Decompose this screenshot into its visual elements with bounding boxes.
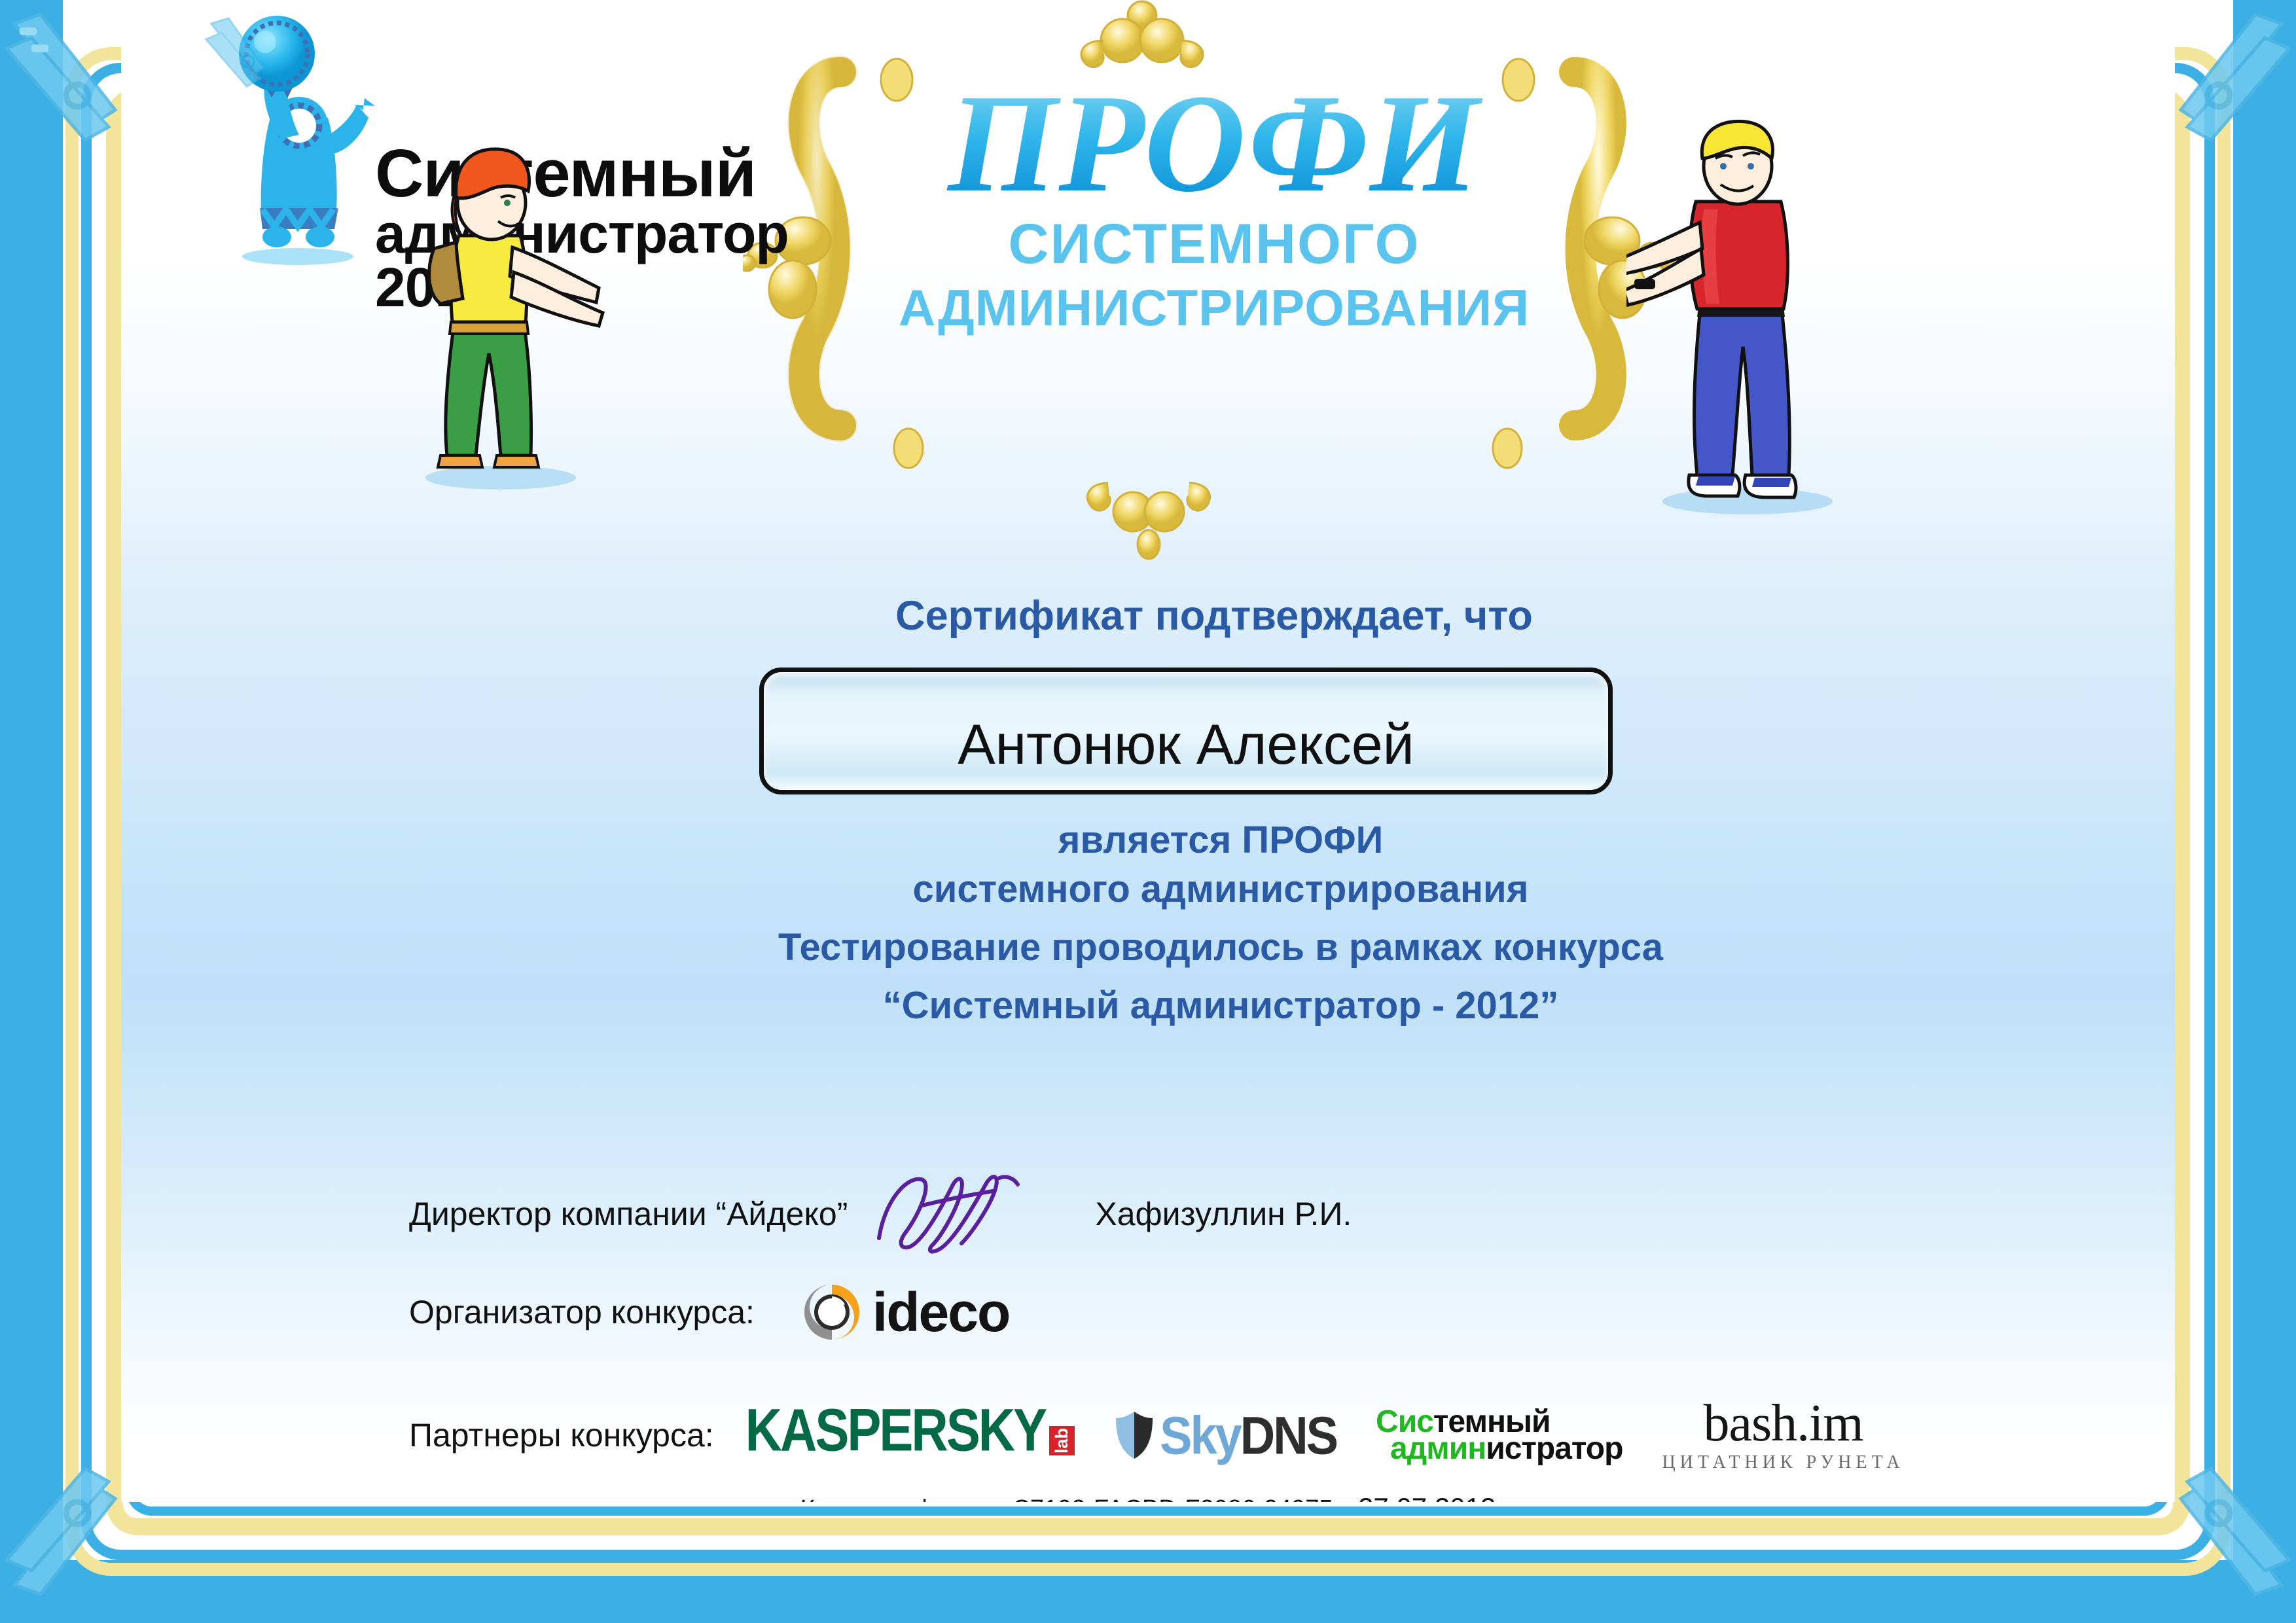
skydns-word-sky: Sky xyxy=(1160,1405,1240,1465)
profi-subtitle-2: АДМИНИСТРИРОВАНИЯ xyxy=(828,278,1600,338)
bashim-tagline: ЦИТАТНИК РУНЕТА xyxy=(1662,1452,1904,1473)
female-sysadmin-character xyxy=(403,137,625,491)
pliers-corner-top-right-icon xyxy=(2094,12,2291,208)
profi-word: ПРОФИ xyxy=(828,79,1600,208)
partners-row: Партнеры конкурса: KASPERSKY lab SkyDNS xyxy=(409,1397,2175,1473)
pliers-corner-bottom-right-icon xyxy=(2094,1400,2291,1597)
director-label: Директор компании “Айдеко” xyxy=(409,1195,848,1233)
recipient-name: Антонюк Алексей xyxy=(764,713,1608,777)
certificate-body-text: является ПРОФИ системного администрирова… xyxy=(664,818,1777,1033)
certificate-code-row: Код сертификата: C7192-FACBD-F2086-24975… xyxy=(121,1492,2175,1502)
director-row: Директор компании “Айдеко” Хафизуллин Р.… xyxy=(409,1171,1587,1257)
certificate-code-label: Код сертификата: xyxy=(800,1495,1005,1502)
body-line-1: является ПРОФИ xyxy=(664,818,1777,862)
body-line-4: “Системный администратор - 2012” xyxy=(664,984,1777,1027)
pliers-corner-top-left-icon xyxy=(5,12,202,208)
skydns-word-dns: DNS xyxy=(1240,1405,1336,1465)
gold-flourish-bottom-icon xyxy=(1077,471,1221,563)
sysadmin-logo-row2: администратор xyxy=(1390,1435,1623,1462)
ideco-logo: ideco xyxy=(799,1279,1009,1345)
certificate-page: Системный администратор 2012 ПРОФИ СИСТЕ… xyxy=(0,0,2296,1623)
sysadmin-logo-row2-green: админ xyxy=(1390,1431,1486,1466)
certificate-date: 27.07.2012 xyxy=(1358,1492,1496,1502)
partner-logo-list: KASPERSKY lab SkyDNS Системный xyxy=(745,1397,1905,1473)
body-line-2: системного администрирования xyxy=(664,867,1777,911)
body-line-3: Тестирование проводилось в рамках конкур… xyxy=(664,925,1777,969)
profi-logo: ПРОФИ СИСТЕМНОГО АДМИНИСТРИРОВАНИЯ xyxy=(828,79,1600,338)
skydns-logo: SkyDNS xyxy=(1114,1408,1336,1463)
skydns-word: SkyDNS xyxy=(1160,1404,1336,1466)
recipient-nameplate: Антонюк Алексей xyxy=(759,668,1613,794)
bashim-word: bash.im xyxy=(1662,1397,1904,1450)
bashim-logo: bash.im ЦИТАТНИК РУНЕТА xyxy=(1662,1397,1904,1473)
sysadmin-logo: Системный администратор xyxy=(1376,1408,1623,1463)
ideco-word: ideco xyxy=(872,1281,1009,1344)
ideco-ring-icon xyxy=(799,1279,865,1345)
organizer-label: Организатор конкурса: xyxy=(409,1293,755,1331)
handwritten-signature-icon xyxy=(865,1169,1041,1254)
partners-label: Партнеры конкурса: xyxy=(409,1416,714,1454)
kaspersky-word: KASPERSKY xyxy=(745,1395,1045,1465)
organizer-row: Организатор конкурса: ideco xyxy=(409,1279,1260,1345)
shield-icon xyxy=(1114,1410,1155,1460)
profi-subtitle-1: СИСТЕМНОГО xyxy=(828,212,1600,277)
sysadmin-logo-row2-black: истратор xyxy=(1486,1431,1623,1466)
director-name: Хафизуллин Р.И. xyxy=(1095,1195,1352,1233)
confirm-line: Сертификат подтверждает, что xyxy=(749,592,1679,639)
pliers-corner-bottom-left-icon xyxy=(5,1400,202,1597)
kaspersky-lab-badge: lab xyxy=(1049,1426,1075,1455)
certificate-paper: Системный администратор 2012 ПРОФИ СИСТЕ… xyxy=(121,0,2175,1502)
certificate-code-value: C7192-FACBD-F2086-24975 xyxy=(1012,1495,1333,1502)
gold-dot-lower-left-icon xyxy=(890,425,927,471)
gold-dot-lower-right-icon xyxy=(1489,425,1526,471)
male-sysadmin-character xyxy=(1626,118,1849,517)
kaspersky-lab-logo: KASPERSKY lab xyxy=(745,1406,1075,1465)
